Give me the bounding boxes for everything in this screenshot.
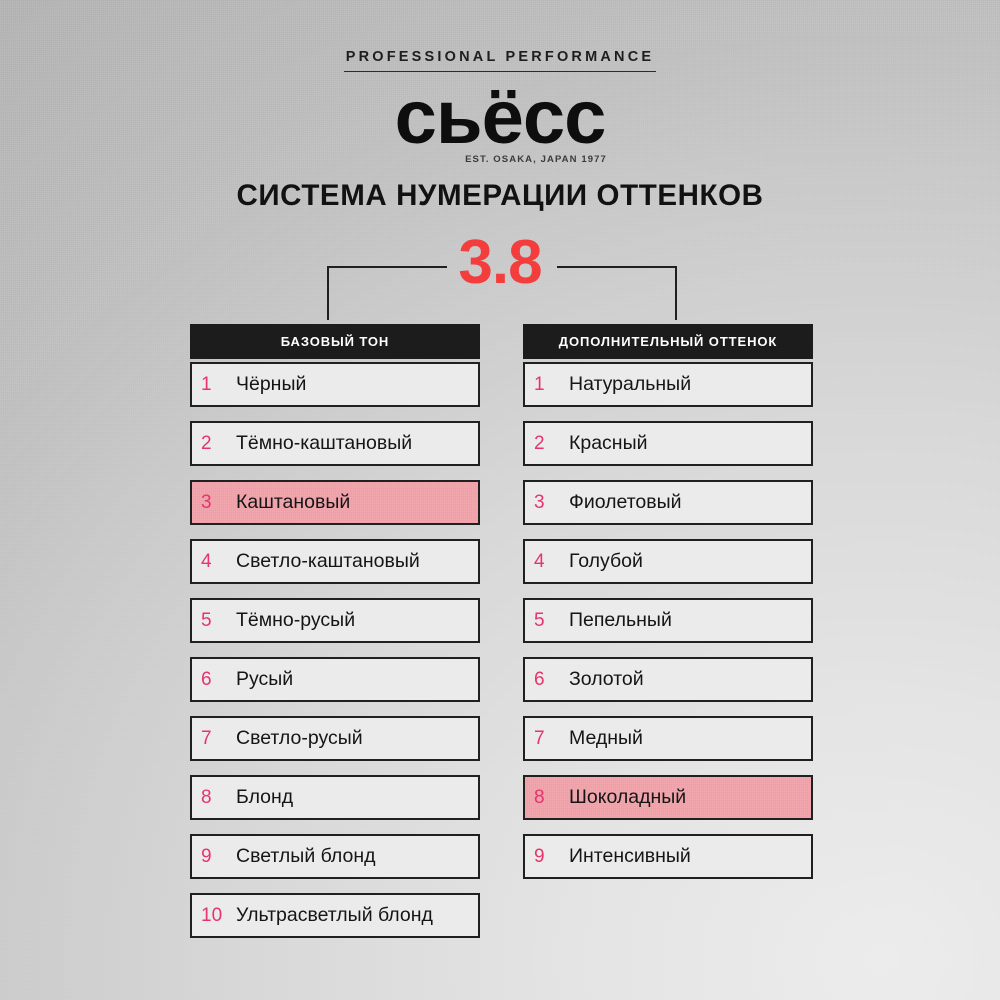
rows-base-tone: 1Чёрный2Тёмно-каштановый3Каштановый4Свет… [190,362,480,938]
row-number: 6 [534,670,569,689]
row-label: Каштановый [236,493,350,513]
row-number: 2 [201,434,236,453]
row-number: 2 [534,434,569,453]
table-row[interactable]: 9Интенсивный [523,834,813,879]
table-row[interactable]: 2Красный [523,421,813,466]
row-number: 1 [534,375,569,394]
shade-numbering-poster: PROFESSIONAL PERFORMANCE сьёсс EST. OSAK… [0,0,1000,1000]
table-row[interactable]: 7Светло-русый [190,716,480,761]
row-label: Тёмно-каштановый [236,434,412,454]
row-number: 3 [534,493,569,512]
row-number: 8 [201,788,236,807]
row-number: 7 [534,729,569,748]
bracket-connector-left [327,266,447,320]
table-row[interactable]: 5Пепельный [523,598,813,643]
row-number: 9 [201,847,236,866]
row-label: Медный [569,729,643,749]
table-row[interactable]: 6Золотой [523,657,813,702]
row-label: Красный [569,434,647,454]
row-label: Фиолетовый [569,493,682,513]
row-number: 9 [534,847,569,866]
table-row[interactable]: 7Медный [523,716,813,761]
row-number: 7 [201,729,236,748]
page-title: СИСТЕМА НУМЕРАЦИИ ОТТЕНКОВ [0,181,1000,211]
row-label: Светлый блонд [236,847,376,867]
row-label: Светло-русый [236,729,363,749]
row-label: Русый [236,670,293,690]
row-label: Тёмно-русый [236,611,355,631]
row-number: 10 [201,906,236,925]
row-number: 3 [201,493,236,512]
table-row[interactable]: 3Каштановый [190,480,480,525]
row-number: 4 [201,552,236,571]
bracket-connector-right [557,266,677,320]
table-row[interactable]: 8Блонд [190,775,480,820]
table-row[interactable]: 6Русый [190,657,480,702]
row-label: Натуральный [569,375,691,395]
table-row[interactable]: 5Тёмно-русый [190,598,480,643]
column-header-base-tone: БАЗОВЫЙ ТОН [190,324,480,359]
table-row[interactable]: 1Чёрный [190,362,480,407]
row-label: Золотой [569,670,644,690]
table-row[interactable]: 4Светло-каштановый [190,539,480,584]
table-row[interactable]: 2Тёмно-каштановый [190,421,480,466]
table-row[interactable]: 1Натуральный [523,362,813,407]
shade-code-number: 3.8 [0,232,1000,294]
brand-logo: сьёсс [0,83,1000,153]
brand-block: PROFESSIONAL PERFORMANCE сьёсс EST. OSAK… [0,48,1000,165]
row-number: 1 [201,375,236,394]
table-row[interactable]: 4Голубой [523,539,813,584]
brand-tagline: PROFESSIONAL PERFORMANCE [344,50,657,72]
rows-secondary-shade: 1Натуральный2Красный3Фиолетовый4Голубой5… [523,362,813,879]
table-row[interactable]: 9Светлый блонд [190,834,480,879]
brand-established-text: EST. OSAKA, JAPAN 1977 [72,155,1000,165]
shade-columns: БАЗОВЫЙ ТОН 1Чёрный2Тёмно-каштановый3Каш… [190,324,813,952]
row-label: Блонд [236,788,293,808]
row-number: 5 [534,611,569,630]
column-secondary-shade: ДОПОЛНИТЕЛЬНЫЙ ОТТЕНОК 1Натуральный2Крас… [523,324,813,952]
row-label: Голубой [569,552,643,572]
table-row[interactable]: 3Фиолетовый [523,480,813,525]
table-row[interactable]: 8Шоколадный [523,775,813,820]
row-label: Светло-каштановый [236,552,420,572]
column-base-tone: БАЗОВЫЙ ТОН 1Чёрный2Тёмно-каштановый3Каш… [190,324,480,952]
row-number: 8 [534,788,569,807]
row-number: 6 [201,670,236,689]
table-row[interactable]: 10Ультрасветлый блонд [190,893,480,938]
row-label: Интенсивный [569,847,691,867]
row-label: Пепельный [569,611,672,631]
row-number: 4 [534,552,569,571]
row-label: Шоколадный [569,788,686,808]
row-label: Ультрасветлый блонд [236,906,433,926]
column-header-secondary-shade: ДОПОЛНИТЕЛЬНЫЙ ОТТЕНОК [523,324,813,359]
row-number: 5 [201,611,236,630]
row-label: Чёрный [236,375,306,395]
